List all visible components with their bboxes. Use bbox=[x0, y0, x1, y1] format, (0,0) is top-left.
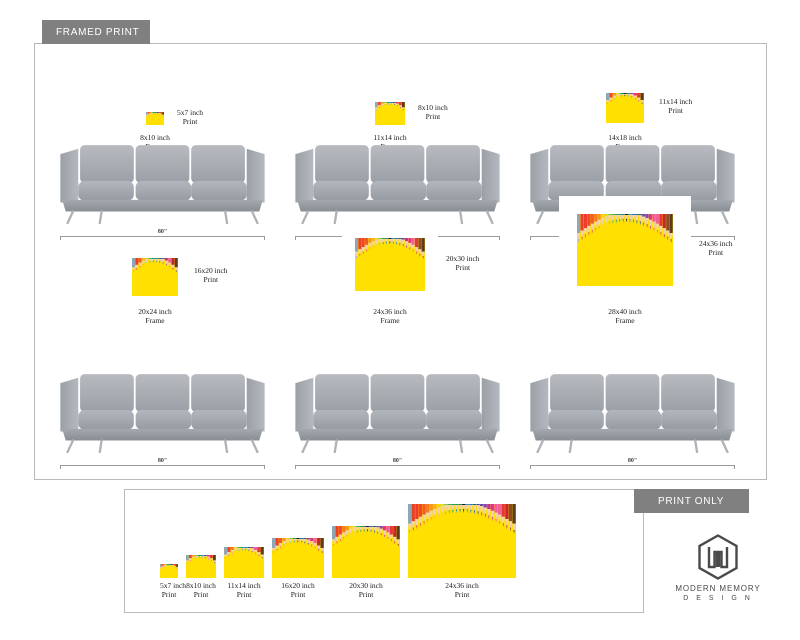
sofa-illustration bbox=[290, 138, 505, 224]
picture-frame[interactable] bbox=[124, 250, 186, 304]
brand-logo-line1: MODERN MEMORY bbox=[660, 584, 776, 593]
artwork-colored-pencils-arch bbox=[160, 564, 178, 578]
sofa-illustration bbox=[525, 367, 740, 453]
frame-size-label: 24x36 inchFrame bbox=[340, 307, 440, 326]
print-size-label: 16x20 inchPrint bbox=[194, 266, 228, 285]
sofa-width-label: 80" bbox=[530, 457, 735, 465]
print-size-label: 8x10 inchPrint bbox=[418, 103, 448, 122]
framed-scene: 5x7 inchPrint8x10 inchFrame80" bbox=[55, 78, 270, 238]
dimension-bar bbox=[60, 465, 265, 466]
artwork-colored-pencils-arch bbox=[332, 526, 400, 578]
brand-logo-line2: D E S I G N bbox=[660, 595, 776, 602]
print-only-item: 8x10 inchPrint bbox=[186, 555, 216, 604]
sofa-width-label: 80" bbox=[295, 457, 500, 465]
print-only-item: 11x14 inchPrint bbox=[224, 547, 264, 604]
frame-mat bbox=[559, 196, 691, 304]
artwork-colored-pencils-arch bbox=[186, 555, 216, 578]
sofa-width-label: 80" bbox=[60, 457, 265, 465]
dimension-bar bbox=[295, 465, 500, 466]
frame-size-label: 28x40 inchFrame bbox=[575, 307, 675, 326]
picture-frame[interactable] bbox=[141, 107, 169, 130]
sofa-width-dimension: 80" bbox=[295, 459, 500, 469]
artwork-colored-pencils-arch bbox=[606, 93, 644, 123]
picture-frame[interactable] bbox=[559, 196, 691, 304]
print-only-item: 16x20 inchPrint bbox=[272, 538, 324, 604]
artwork-colored-pencils-arch bbox=[355, 238, 425, 291]
modern-memory-design-hexagon-mark-icon bbox=[660, 534, 776, 580]
sofa-width-dimension: 80" bbox=[530, 459, 735, 469]
print-size-label: 11x14 inchPrint bbox=[224, 581, 264, 600]
print-size-label: 16x20 inchPrint bbox=[272, 581, 324, 600]
frame-mat bbox=[370, 97, 410, 130]
poster-canvas: FRAMED PRINT PRINT ONLY 5x7 inchPrint8x1… bbox=[0, 0, 800, 640]
print-only-item: 20x30 inchPrint bbox=[332, 526, 400, 604]
brand-logo: MODERN MEMORY D E S I G N bbox=[660, 534, 776, 602]
artwork-colored-pencils-arch bbox=[224, 547, 264, 578]
sofa-width-dimension: 80" bbox=[60, 230, 265, 240]
print-only-item: 5x7 inchPrint bbox=[160, 564, 178, 604]
artwork-colored-pencils-arch bbox=[146, 112, 164, 125]
section-tab-print-only-label: PRINT ONLY bbox=[658, 496, 724, 507]
framed-scene: 24x36 inchPrint28x40 inchFrame80" bbox=[525, 252, 740, 467]
framed-scene: 8x10 inchPrint11x14 inchFrame80" bbox=[290, 78, 505, 238]
print-size-label: 5x7 inchPrint bbox=[177, 108, 203, 127]
sofa-width-label: 80" bbox=[60, 228, 265, 236]
artwork-colored-pencils-arch bbox=[375, 102, 405, 125]
frame-mat bbox=[124, 250, 186, 304]
sofa-illustration bbox=[290, 367, 505, 453]
sofa-illustration bbox=[55, 367, 270, 453]
dimension-bar bbox=[60, 236, 265, 237]
print-only-item: 24x36 inchPrint bbox=[408, 504, 516, 604]
print-size-label: 20x30 inchPrint bbox=[446, 254, 480, 273]
frame-mat bbox=[342, 225, 438, 304]
picture-frame[interactable] bbox=[599, 86, 651, 130]
print-size-label: 24x36 inchPrint bbox=[699, 239, 733, 258]
section-tab-framed-print-label: FRAMED PRINT bbox=[56, 27, 139, 38]
dimension-bar bbox=[530, 465, 735, 466]
print-size-label: 11x14 inchPrint bbox=[659, 97, 692, 116]
framed-scene: 16x20 inchPrint20x24 inchFrame80" bbox=[55, 252, 270, 467]
frame-mat bbox=[599, 86, 651, 130]
section-tab-framed-print: FRAMED PRINT bbox=[42, 20, 150, 44]
print-size-label: 24x36 inchPrint bbox=[408, 581, 516, 600]
sofa-width-dimension: 80" bbox=[60, 459, 265, 469]
sofa-illustration bbox=[55, 138, 270, 224]
print-size-label: 5x7 inchPrint bbox=[160, 581, 178, 600]
print-size-label: 20x30 inchPrint bbox=[332, 581, 400, 600]
print-size-label: 8x10 inchPrint bbox=[186, 581, 216, 600]
section-tab-print-only: PRINT ONLY bbox=[634, 489, 749, 513]
artwork-colored-pencils-arch bbox=[272, 538, 324, 578]
frame-size-label: 20x24 inchFrame bbox=[105, 307, 205, 326]
artwork-colored-pencils-arch bbox=[408, 504, 516, 578]
framed-scene: 20x30 inchPrint24x36 inchFrame80" bbox=[290, 252, 505, 467]
artwork-colored-pencils-arch bbox=[577, 214, 673, 286]
picture-frame[interactable] bbox=[342, 225, 438, 304]
picture-frame[interactable] bbox=[370, 97, 410, 130]
artwork-colored-pencils-arch bbox=[132, 258, 178, 296]
frame-mat bbox=[141, 107, 169, 130]
